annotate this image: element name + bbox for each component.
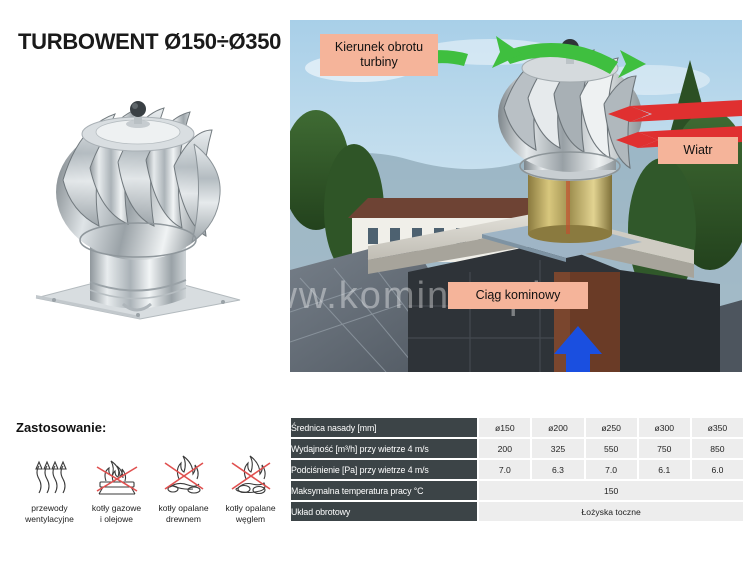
application-item-gas-oil: kotły gazowe i olejowe bbox=[83, 453, 150, 524]
table-cell: 150 bbox=[477, 481, 743, 502]
coal-boiler-icon bbox=[217, 453, 284, 497]
callout-wind: Wiatr bbox=[658, 137, 738, 164]
table-cell: 850 bbox=[690, 439, 743, 460]
product-photo bbox=[18, 72, 258, 320]
product-datasheet-page: TURBOWENT Ø150÷Ø350 bbox=[0, 0, 750, 562]
table-cell: ø150 bbox=[477, 418, 530, 439]
table-cell: ø250 bbox=[584, 418, 637, 439]
application-label: kotły opalane węglem bbox=[217, 503, 284, 524]
table-row-label: Wydajność [m³/h] przy wietrze 4 m/s bbox=[291, 439, 477, 460]
application-item-wood: kotły opalane drewnem bbox=[150, 453, 217, 524]
installation-scene-photo: www.komineo.pl Kierunek obrotu turbiny W… bbox=[290, 20, 742, 372]
table-cell: 7.0 bbox=[584, 460, 637, 481]
specification-table-body: Średnica nasady [mm] ø150 ø200 ø250 ø300… bbox=[291, 418, 743, 521]
table-row: Maksymalna temperatura pracy °C 150 bbox=[291, 481, 743, 502]
wood-boiler-icon bbox=[150, 453, 217, 497]
table-cell: 6.3 bbox=[530, 460, 583, 481]
table-row-label: Podciśnienie [Pa] przy wietrze 4 m/s bbox=[291, 460, 477, 481]
application-label: przewody wentylacyjne bbox=[16, 503, 83, 524]
table-cell: ø300 bbox=[637, 418, 690, 439]
table-cell: 6.0 bbox=[690, 460, 743, 481]
application-label: kotły gazowe i olejowe bbox=[83, 503, 150, 524]
callout-chimney-draft: Ciąg kominowy bbox=[448, 282, 588, 309]
table-cell: 7.0 bbox=[477, 460, 530, 481]
application-item-coal: kotły opalane węglem bbox=[217, 453, 284, 524]
application-item-ventilation: przewody wentylacyjne bbox=[16, 453, 83, 524]
table-row-label: Średnica nasady [mm] bbox=[291, 418, 477, 439]
applications-list: przewody wentylacyjne bbox=[16, 453, 284, 524]
turbine-ventilator-illustration bbox=[18, 72, 258, 320]
table-cell: 550 bbox=[584, 439, 637, 460]
gas-oil-boiler-icon bbox=[83, 453, 150, 497]
table-cell: 750 bbox=[637, 439, 690, 460]
table-cell: 200 bbox=[477, 439, 530, 460]
table-row: Średnica nasady [mm] ø150 ø200 ø250 ø300… bbox=[291, 418, 743, 439]
applications-section: Zastosowanie: bbox=[16, 420, 284, 524]
specification-table: Średnica nasady [mm] ø150 ø200 ø250 ø300… bbox=[291, 418, 743, 521]
table-row: Podciśnienie [Pa] przy wietrze 4 m/s 7.0… bbox=[291, 460, 743, 481]
application-label: kotły opalane drewnem bbox=[150, 503, 217, 524]
table-row: Wydajność [m³/h] przy wietrze 4 m/s 200 … bbox=[291, 439, 743, 460]
table-row-label: Maksymalna temperatura pracy °C bbox=[291, 481, 477, 502]
table-cell: Łożyska toczne bbox=[477, 502, 743, 521]
page-title: TURBOWENT Ø150÷Ø350 bbox=[18, 29, 281, 55]
ventilation-duct-icon bbox=[16, 453, 83, 497]
applications-title: Zastosowanie: bbox=[16, 420, 284, 435]
table-row: Układ obrotowy Łożyska toczne bbox=[291, 502, 743, 521]
table-row-label: Układ obrotowy bbox=[291, 502, 477, 521]
table-cell: 6.1 bbox=[637, 460, 690, 481]
table-cell: ø200 bbox=[530, 418, 583, 439]
table-cell: 325 bbox=[530, 439, 583, 460]
callout-rotation-direction: Kierunek obrotu turbiny bbox=[320, 34, 438, 76]
table-cell: ø350 bbox=[690, 418, 743, 439]
